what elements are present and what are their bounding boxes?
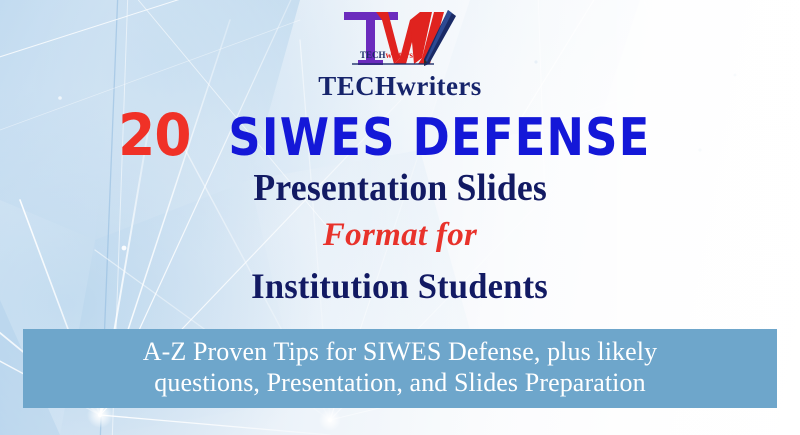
headline-number: 20 — [118, 109, 190, 162]
poster-canvas: TECHwriters TECHwriters 20 SIWES DEFENSE… — [0, 0, 800, 435]
bottom-banner: A-Z Proven Tips for SIWES Defense, plus … — [23, 329, 777, 408]
banner-line-1: A-Z Proven Tips for SIWES Defense, plus … — [33, 336, 767, 368]
logo-wordmark-tech: TECH — [318, 71, 396, 101]
banner-line-2: questions, Presentation, and Slides Prep… — [33, 367, 767, 399]
logo-mark-tagline: TECHwriters — [360, 50, 413, 60]
subheading-format-for: Format for — [323, 217, 477, 254]
logo-mark-tw: TECHwriters — [330, 8, 470, 72]
headline: 20 SIWES DEFENSE — [115, 109, 685, 163]
subheading-presentation-slides: Presentation Slides — [253, 166, 547, 210]
logo-wordmark: TECHwriters — [318, 73, 481, 100]
headline-title: SIWES DEFENSE — [228, 114, 650, 163]
brand-logo[interactable]: TECHwriters TECHwriters — [318, 8, 481, 100]
subheading-institution-students: Institution Students — [252, 265, 549, 307]
logo-wordmark-writers: writers — [396, 71, 481, 101]
logo-mark-svg: TECHwriters — [330, 8, 470, 72]
